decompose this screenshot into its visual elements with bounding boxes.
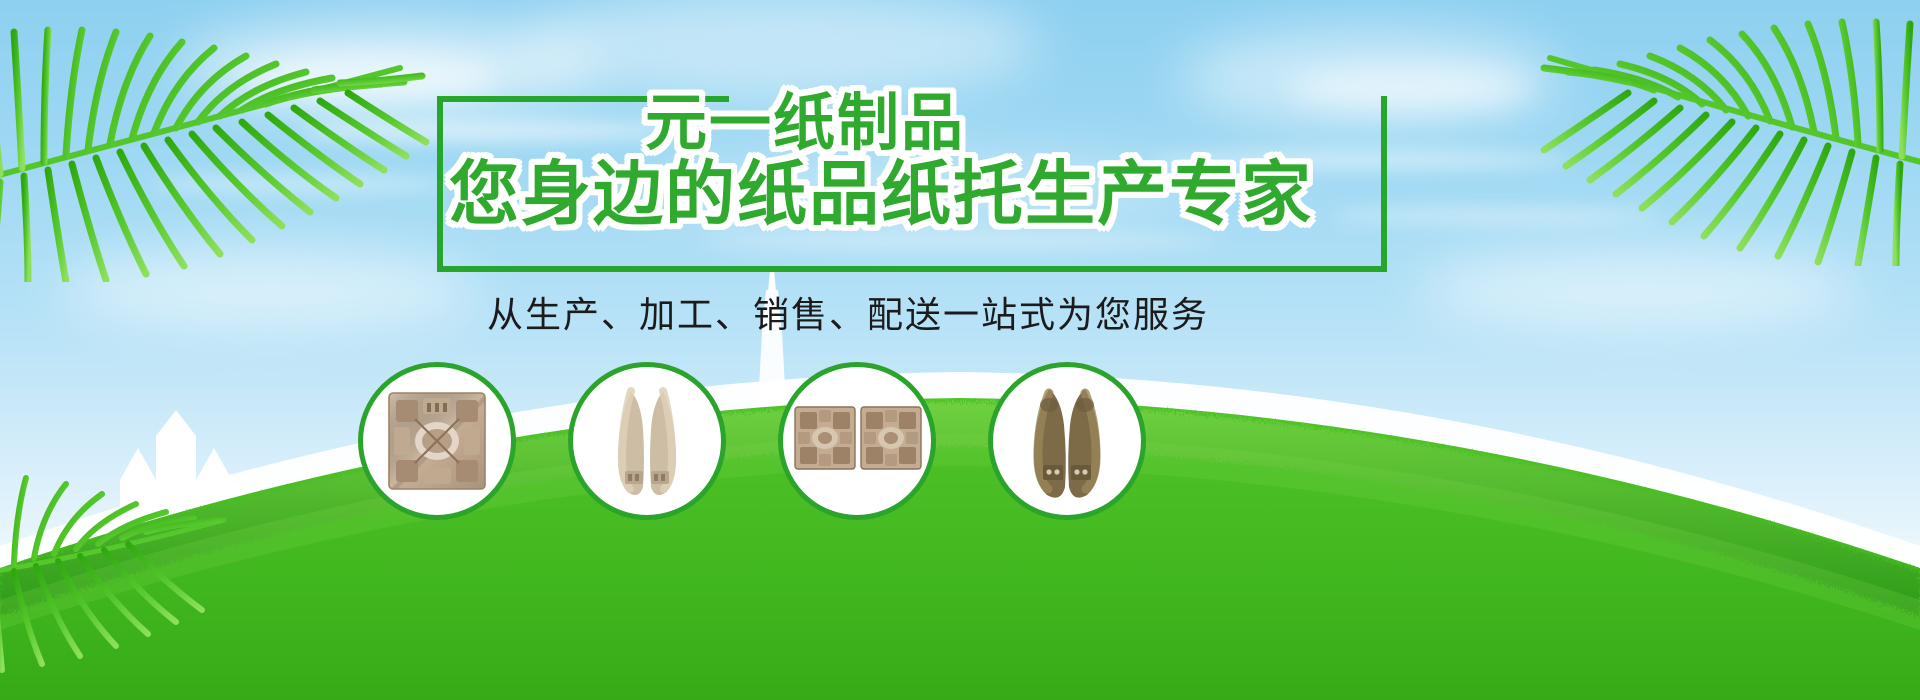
headline-frame: 元一纸制品 您身边的纸品纸托生产专家 [437,96,1387,272]
grass-hill [0,300,1920,700]
palm-frond-icon [0,450,254,700]
frame-bottom-rule [437,266,1387,272]
molded-pulp-corner-protectors [783,367,931,515]
molded-pulp-shoe-forms-dark [993,367,1141,515]
product-circle-1[interactable] [358,362,516,520]
molded-pulp-square-tray [363,367,511,515]
headline-line-2: 您身边的纸品纸托生产专家 [449,138,1313,239]
product-circle-2[interactable] [568,362,726,520]
frame-left-rule [437,96,443,272]
molded-pulp-shoe-tree-pair [573,367,721,515]
subtitle-text: 从生产、加工、销售、配送一站式为您服务 [487,286,1209,338]
frame-right-rule [1381,96,1387,272]
product-circle-4[interactable] [988,362,1146,520]
palm-frond-icon [0,0,440,282]
palm-frond-icon [1520,0,1920,266]
product-circle-3[interactable] [778,362,936,520]
promo-banner: 元一纸制品 您身边的纸品纸托生产专家 从生产、加工、销售、配送一站式为您服务 [0,0,1920,700]
